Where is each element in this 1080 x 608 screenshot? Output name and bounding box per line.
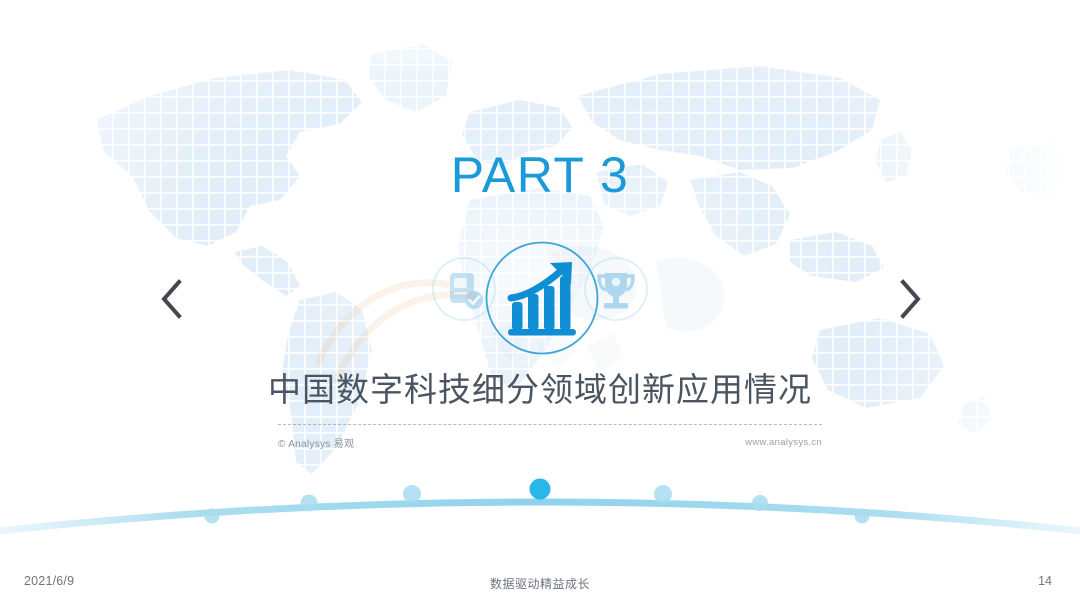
slide-footer: 2021/6/9 数据驱动精益成长 14 <box>0 564 1080 608</box>
progress-arc <box>0 455 1080 555</box>
progress-dot[interactable] <box>752 495 768 511</box>
progress-dot[interactable] <box>403 485 421 503</box>
page-title: 中国数字科技细分领域创新应用情况 <box>0 370 1080 410</box>
progress-dot[interactable] <box>855 509 870 524</box>
slide-canvas: PART 3 <box>0 0 1080 608</box>
next-slide-button[interactable] <box>886 272 934 326</box>
progress-dot-active[interactable] <box>530 479 551 500</box>
trophy-icon <box>580 253 652 325</box>
website-url[interactable]: www.analysys.cn <box>745 437 822 448</box>
arc-line <box>0 502 1080 533</box>
previous-slide-button[interactable] <box>148 272 196 326</box>
chevron-left-icon <box>157 277 187 321</box>
title-divider <box>278 424 822 425</box>
footer-page-number: 14 <box>1038 574 1052 588</box>
progress-dot[interactable] <box>654 485 672 503</box>
copyright-text: © Analysys 易观 <box>278 435 354 450</box>
progress-dot[interactable] <box>301 495 318 512</box>
progress-dot-group <box>205 479 870 524</box>
progress-dot[interactable] <box>205 509 220 524</box>
footer-slogan: 数据驱动精益成长 <box>0 575 1080 592</box>
section-icon-cluster <box>420 235 660 360</box>
chevron-right-icon <box>895 277 925 321</box>
part-label: PART 3 <box>0 150 1080 200</box>
